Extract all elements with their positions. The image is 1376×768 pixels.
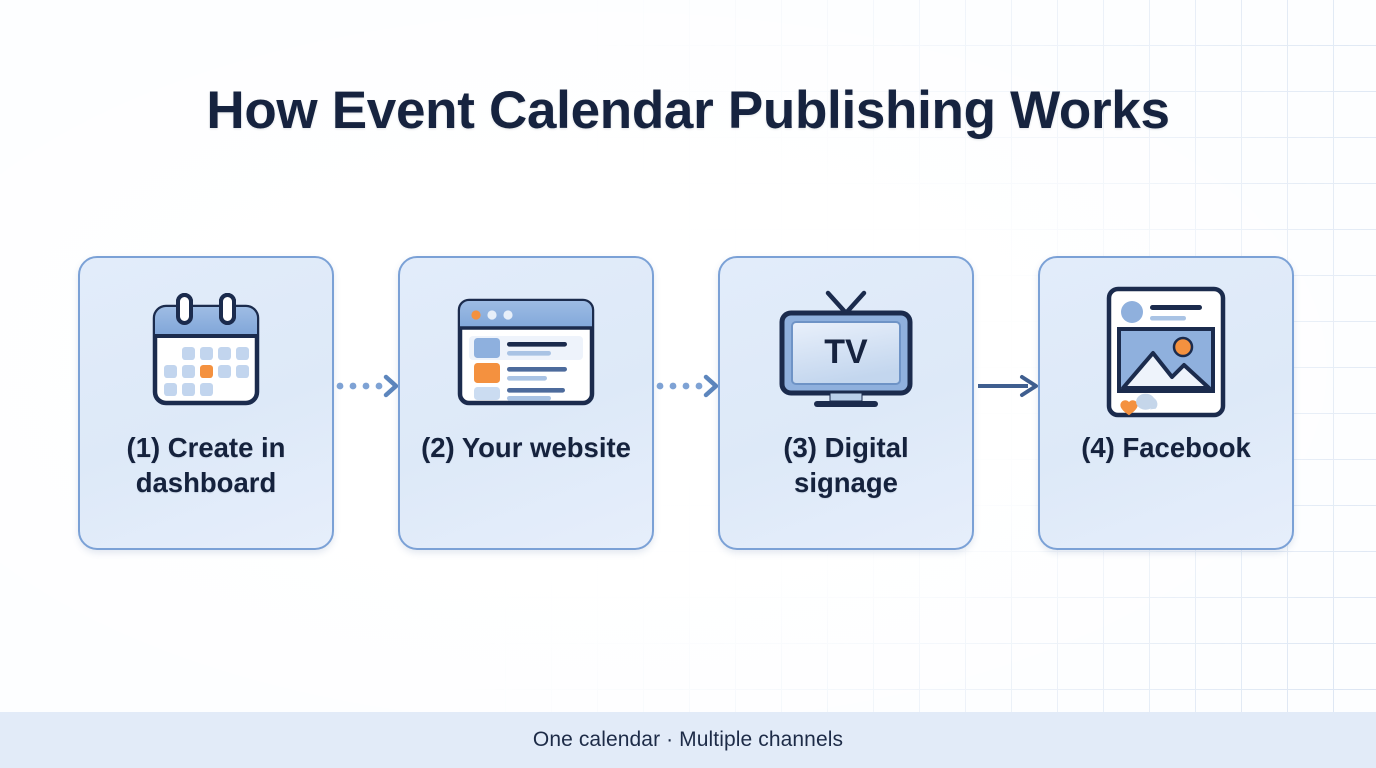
flow-step-label: (4) Facebook [1054,430,1278,465]
flow-step-your-website[interactable]: (2) Your website [398,256,654,550]
flow-step-facebook[interactable]: (4) Facebook [1038,256,1294,550]
footer-caption: One calendar · Multiple channels [533,728,843,752]
footer-bar: One calendar · Multiple channels [0,712,1376,768]
flow-step-label: (2) Your website [414,430,638,465]
flow-step-digital-signage[interactable]: TV (3) Digital signage [718,256,974,550]
process-flow: (1) Create in dashboard [78,256,1298,554]
solid-arrow-right-icon [976,368,1040,404]
flow-step-label: (3) Digital signage [734,430,958,500]
dotted-arrow-right-icon [656,368,720,404]
infographic-canvas: How Event Calendar Publishing Works [0,0,1376,768]
television-icon: TV [770,286,922,418]
calendar-icon [143,286,269,418]
tv-screen-text: TV [824,333,868,371]
page-title: How Event Calendar Publishing Works [0,80,1376,141]
browser-window-icon [453,286,599,418]
social-post-icon [1099,286,1233,418]
flow-step-create-in-dashboard[interactable]: (1) Create in dashboard [78,256,334,550]
flow-step-label: (1) Create in dashboard [94,430,318,500]
dotted-arrow-right-icon [336,368,400,404]
